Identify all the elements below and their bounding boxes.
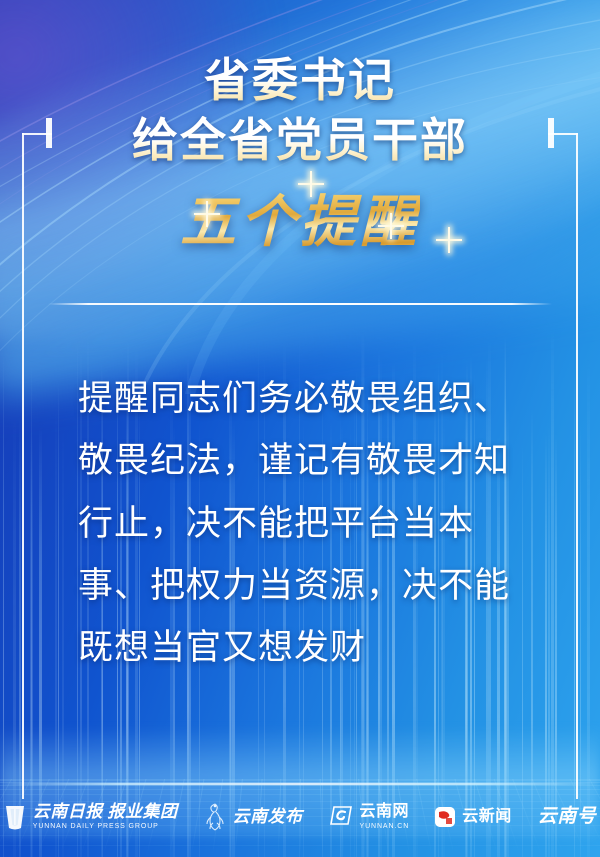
title-line-1: 省委书记	[0, 56, 600, 106]
logo-label-cn: 云新闻	[462, 809, 512, 826]
logo-yunnan-fabu[interactable]: 云南发布	[204, 802, 303, 832]
title-block: 省委书记 给全省党员干部 五个提醒	[0, 56, 600, 258]
peacock-icon	[204, 802, 226, 832]
poster-root: 省委书记 给全省党员干部 五个提醒 提醒同志们务必敬畏组织、敬畏纪法，谨记有敬畏…	[0, 0, 600, 857]
logo-yunnan-daily-press-group[interactable]: 云南日报 报业集团 YUNNAN DAILY PRESS GROUP	[4, 803, 178, 831]
logo-label-cn: 云南日报 报业集团	[33, 803, 178, 821]
logo-label-cn: 云南发布	[233, 808, 303, 826]
logo-label-cn: 云南网	[360, 804, 410, 821]
section-divider	[48, 303, 552, 305]
cup-mark-icon	[4, 803, 26, 831]
logo-label-en: YUNNAN DAILY PRESS GROUP	[33, 823, 178, 830]
diamond-swirl-icon	[329, 805, 353, 829]
logo-label-cn: 云南号	[538, 807, 597, 827]
footer-logo-bar: 云南日报 报业集团 YUNNAN DAILY PRESS GROUP 云	[0, 791, 600, 843]
logo-yun-xinwen[interactable]: 云新闻	[435, 807, 512, 827]
sparkle-icon-4	[436, 227, 462, 253]
title-line-2: 给全省党员干部	[0, 116, 600, 166]
title-highlight-calligraphy: 五个提醒	[180, 177, 420, 258]
body-paragraph: 提醒同志们务必敬畏组织、敬畏纪法，谨记有敬畏才知行止，决不能把平台当本事、把权力…	[78, 368, 540, 679]
logo-yunnan-net[interactable]: 云南网 YUNNAN.CN	[329, 804, 410, 830]
logo-label-en: YUNNAN.CN	[360, 823, 410, 830]
app-square-icon	[435, 807, 455, 827]
logo-yunnan-hao[interactable]: 云南号	[538, 807, 597, 827]
